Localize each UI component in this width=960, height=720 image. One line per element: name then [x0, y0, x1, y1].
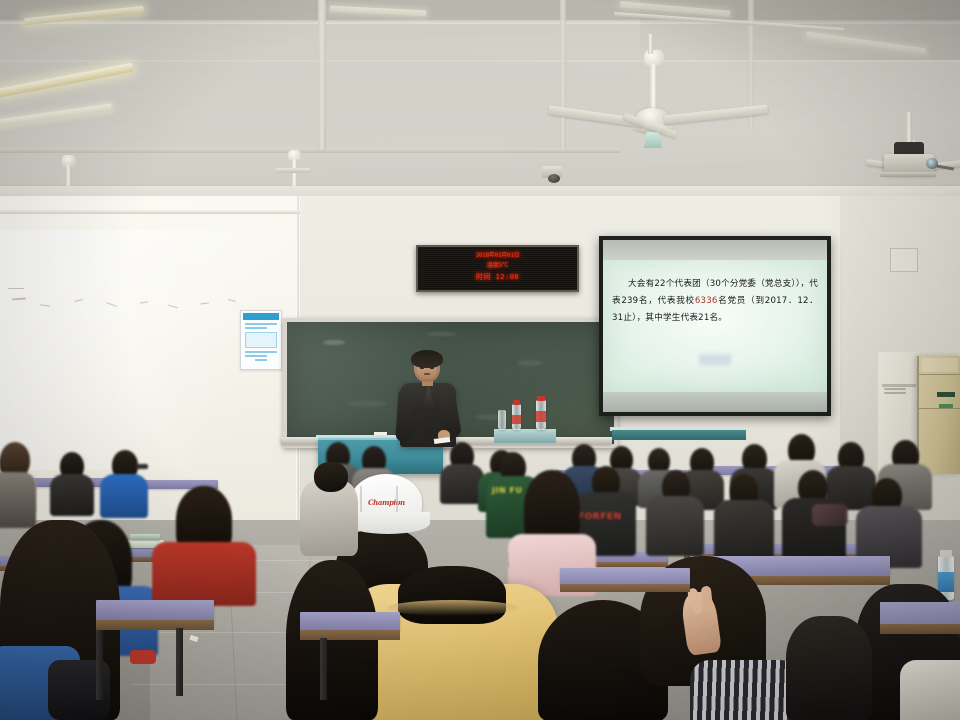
bottle-label: [536, 411, 546, 422]
vent-line: [882, 384, 916, 387]
projector-pole: [906, 112, 912, 146]
chalk-smudge: [347, 400, 387, 407]
student-body: [50, 474, 94, 516]
desk-leg: [176, 628, 183, 696]
desk-edge: [96, 620, 214, 630]
storage-cabinet: [917, 356, 960, 474]
fan-rod: [650, 64, 657, 112]
slide-smudge: [699, 354, 731, 365]
bottle-label: [938, 572, 954, 592]
student-body: [900, 660, 960, 720]
bottle-cap: [513, 400, 520, 405]
striped-shirt-student: [690, 660, 800, 720]
student-head: [786, 616, 872, 720]
poster-line: [245, 323, 277, 325]
wall-trim: [0, 210, 300, 214]
ceiling-seam: [0, 60, 960, 62]
sweater-collar: [388, 600, 518, 616]
student-body: [714, 500, 774, 560]
cap-seam: [360, 486, 362, 512]
desk-edge: [300, 630, 400, 640]
classroom-photo: 2018年03月01日 温度5℃ 时间 12:00 大会有22个代表团（30个分…: [0, 0, 960, 720]
bottle-cap: [537, 396, 545, 401]
poster-line: [255, 359, 267, 361]
ceiling-rib: [318, 0, 326, 150]
student-head: [314, 462, 348, 492]
cabinet-panel: [922, 358, 958, 372]
presenter-speaker: [398, 352, 458, 447]
fan-blade: [664, 105, 768, 125]
projection-screen-bottom-band: [603, 392, 827, 412]
vent-line: [884, 388, 906, 390]
projector-base: [880, 172, 936, 177]
chalk-smudge: [323, 340, 345, 345]
cabinet-label: [937, 392, 955, 397]
ceiling-fan: [560, 50, 790, 150]
water-bottle: [498, 410, 506, 430]
front-desk: [612, 430, 746, 440]
projection-screen-top-band: [603, 240, 827, 262]
poster-line: [245, 327, 267, 329]
chalk-smudge: [427, 332, 457, 336]
student-body: [100, 474, 148, 518]
desk-leg: [320, 638, 327, 700]
wall-mark: [8, 288, 24, 289]
vent-line: [884, 392, 906, 394]
desk-edge: [560, 584, 690, 592]
presenter-mouth: [424, 373, 430, 375]
jacket-text-forfen: FORFEN: [578, 512, 622, 522]
poster-line: [245, 355, 267, 357]
led-scrolling-sign: 2018年03月01日 温度5℃ 时间 12:00: [416, 245, 579, 292]
student-body: [0, 472, 36, 528]
slide-text: 大会有22个代表团（30个分党委（党总支）），代表239名，代表我校6336名党…: [612, 276, 818, 327]
fan-hanger: [648, 34, 653, 54]
floral-scarf: [812, 504, 848, 526]
side-lectern: [494, 429, 556, 443]
poster-header: [243, 313, 279, 320]
presenter-hair: [411, 350, 443, 368]
wall-notice-poster: [240, 310, 282, 370]
projection-screen: 大会有22个代表团（30个分党委（党总支）），代表239名，代表我校6336名党…: [603, 260, 827, 394]
eyeglasses-icon: [136, 464, 148, 469]
poster-line: [245, 351, 277, 353]
fan-light-cover: [644, 132, 662, 148]
cabinet-seam: [919, 408, 960, 409]
bottle-cap: [940, 550, 952, 557]
cap-logo-text: Champion: [368, 498, 405, 507]
bottle-label: [512, 415, 521, 424]
poster-table: [245, 332, 277, 348]
student-hair: [286, 560, 378, 720]
student-body: [646, 496, 704, 556]
led-pixel-grid: [418, 247, 577, 290]
chalk-smudge: [517, 360, 543, 366]
desk: [96, 600, 214, 622]
cabinet-indicator: [939, 404, 953, 408]
book: [130, 534, 160, 540]
student-body: [152, 542, 256, 606]
red-shoe: [130, 650, 156, 664]
cabinet-seam: [919, 374, 960, 375]
jacket-text-jin: JIN FU: [492, 486, 522, 495]
wall-electrical-box: [890, 248, 918, 272]
cap-seam: [396, 486, 398, 512]
desk-edge: [880, 624, 960, 634]
cap-brim: [346, 512, 430, 534]
security-camera-icon: [548, 174, 560, 183]
desk: [300, 612, 400, 632]
slide-text-highlight: 6336: [695, 296, 718, 306]
desk-leg: [96, 630, 103, 700]
camera-bracket: [276, 168, 310, 173]
